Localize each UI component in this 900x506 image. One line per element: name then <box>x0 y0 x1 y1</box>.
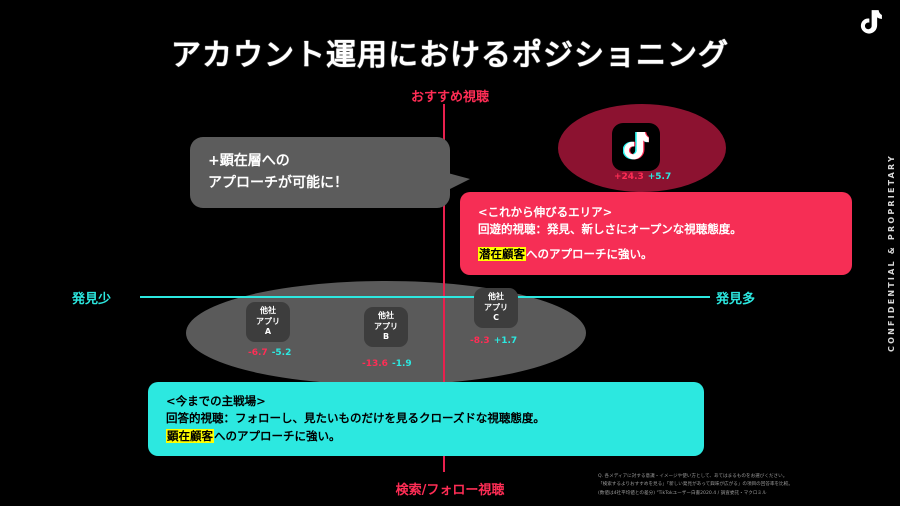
callout-pink-heading: <これから伸びるエリア> <box>478 204 834 221</box>
tile-label-c-line3: C <box>484 313 508 324</box>
value-cyan-app-a: -5.2 <box>272 348 292 358</box>
slide-canvas: アカウント運用におけるポジショニング CONFIDENTIAL & PROPRI… <box>0 0 900 506</box>
tile-label-a-line1: 他社 <box>256 306 280 317</box>
tile-label-a-line2: アプリ <box>256 317 280 328</box>
page-title: アカウント運用におけるポジショニング <box>0 30 900 74</box>
callout-pink-footer: 潜在顧客へのアプローチに強い。 <box>478 246 834 263</box>
axis-label-right: 発見多 <box>716 288 755 307</box>
footnote-line-2: 「検索するよりおすすめを見る」「新しい発見があって興味が広がる」の項目の回答率を… <box>598 481 878 489</box>
callout-cyan-highlight: 顕在顧客 <box>166 429 214 443</box>
value-pair-app-b: -13.6-1.9 <box>362 359 412 369</box>
speech-bubble-line1: +顕在層への <box>208 151 432 173</box>
tile-label-b-line3: B <box>374 332 398 343</box>
callout-cyan-tail: へのアプローチに強い。 <box>214 429 341 443</box>
plot-tile-app-a[interactable]: 他社 アプリ A <box>246 302 290 342</box>
speech-bubble-tail <box>444 172 470 192</box>
value-pink-app-c: -8.3 <box>470 336 490 346</box>
tiktok-logo-icon <box>623 132 649 162</box>
callout-cyan-body: 回答的視聴：フォローし、見たいものだけを見るクローズドな視聴態度。 <box>166 410 686 427</box>
value-pair-app-c: -8.3+1.7 <box>470 336 517 346</box>
callout-pink-spacer <box>478 239 834 246</box>
callout-cyan-heading: <今までの主戦場> <box>166 393 686 410</box>
axis-label-left: 発見少 <box>72 288 111 307</box>
axis-label-top: おすすめ視聴 <box>0 86 900 105</box>
footnote-line-3: (数値は4社平均値との差分) "TikTokユーザー白書2020.4 / 調査委… <box>598 490 878 498</box>
plot-tile-app-b[interactable]: 他社 アプリ B <box>364 307 408 347</box>
footnote-line-1: Q. 各メディアに対する意識・イメージや使い方として、あてはまるものをお選びくだ… <box>598 473 878 481</box>
value-cyan-app-c: +1.7 <box>494 336 517 346</box>
value-pink-tiktok: +24.3 <box>614 172 644 182</box>
value-cyan-app-b: -1.9 <box>392 359 412 369</box>
tile-label-b-line1: 他社 <box>374 311 398 322</box>
speech-bubble-line2: アプローチが可能に！ <box>208 173 432 195</box>
callout-growth-area: <これから伸びるエリア> 回遊的視聴：発見、新しさにオープンな視聴態度。 潜在顧… <box>460 192 852 275</box>
plot-tile-app-c[interactable]: 他社 アプリ C <box>474 288 518 328</box>
speech-bubble-approach: +顕在層への アプローチが可能に！ <box>190 137 450 208</box>
callout-cyan-footer: 顕在顧客へのアプローチに強い。 <box>166 428 686 445</box>
value-pink-app-b: -13.6 <box>362 359 388 369</box>
confidential-notice: CONFIDENTIAL & PROPRIETARY <box>887 154 896 352</box>
value-pink-app-a: -6.7 <box>248 348 268 358</box>
value-pair-tiktok: +24.3+5.7 <box>614 172 671 182</box>
callout-existing-battlefield: <今までの主戦場> 回答的視聴：フォローし、見たいものだけを見るクローズドな視聴… <box>148 382 704 456</box>
tile-label-c-line1: 他社 <box>484 292 508 303</box>
tile-label-c-line2: アプリ <box>484 303 508 314</box>
value-pair-app-a: -6.7-5.2 <box>248 348 291 358</box>
plot-tile-tiktok[interactable] <box>612 123 660 171</box>
callout-pink-tail: へのアプローチに強い。 <box>526 247 653 261</box>
tile-label-a-line3: A <box>256 327 280 338</box>
footnote: Q. 各メディアに対する意識・イメージや使い方として、あてはまるものをお選びくだ… <box>598 473 878 498</box>
callout-pink-body: 回遊的視聴：発見、新しさにオープンな視聴態度。 <box>478 221 834 238</box>
value-cyan-tiktok: +5.7 <box>648 172 671 182</box>
horizontal-axis <box>140 296 710 298</box>
callout-pink-highlight: 潜在顧客 <box>478 247 526 261</box>
tile-label-b-line2: アプリ <box>374 322 398 333</box>
